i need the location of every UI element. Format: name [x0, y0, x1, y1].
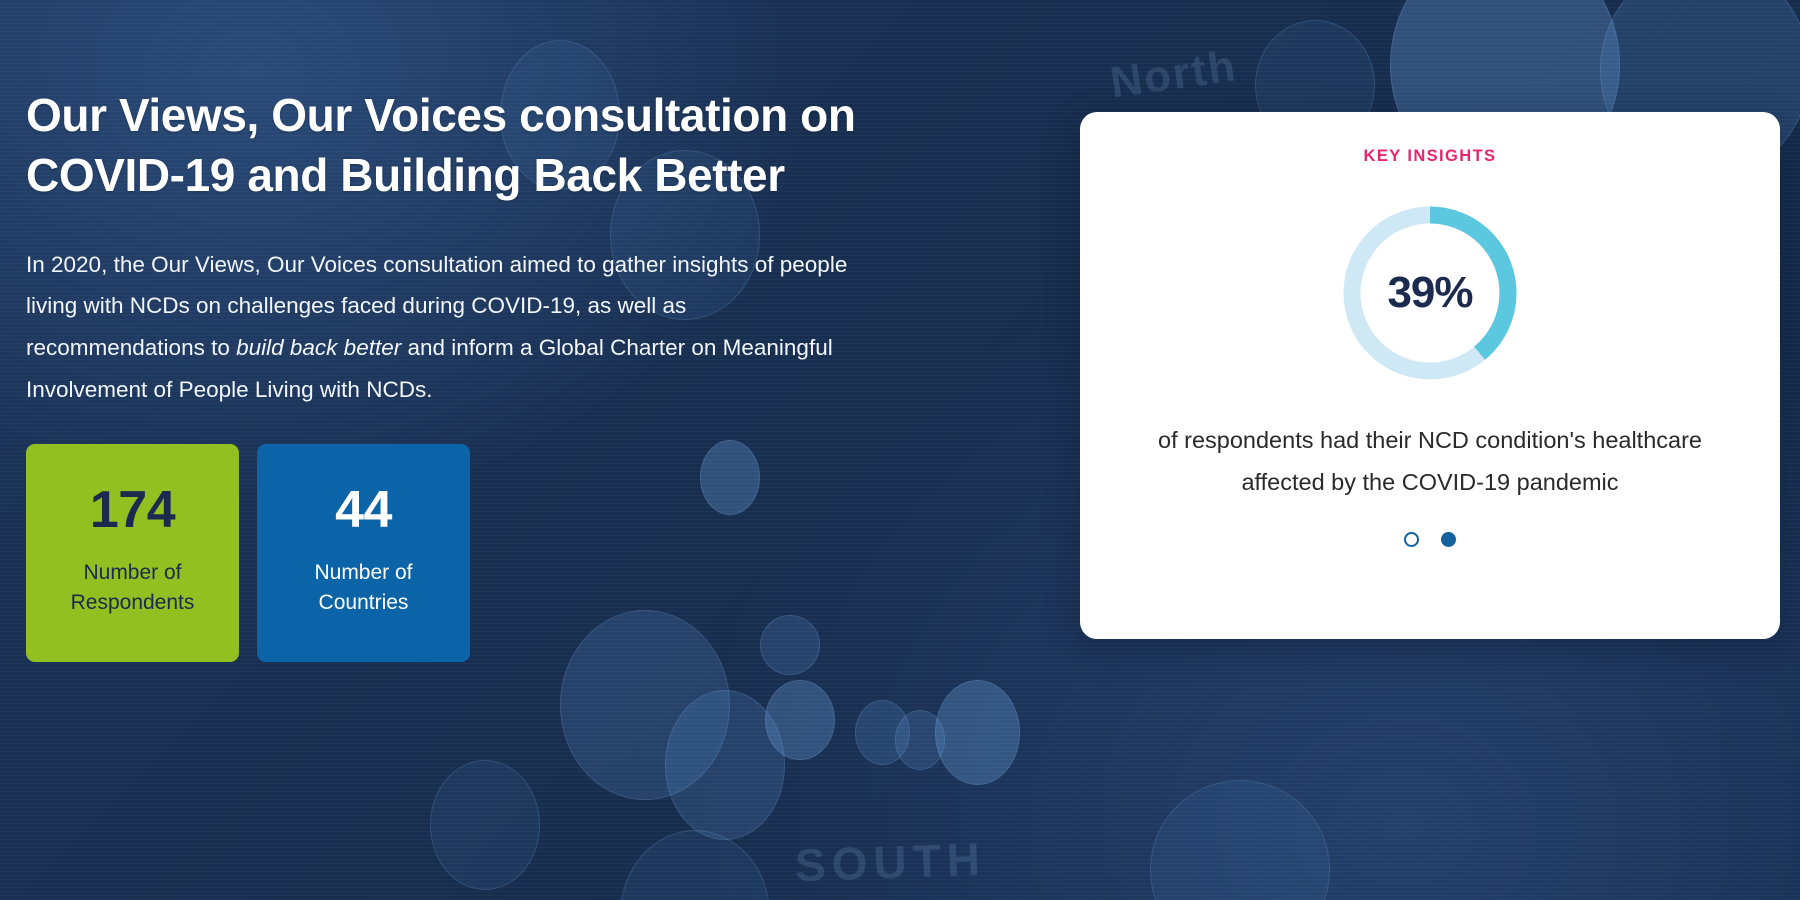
stat-label-respondents: Number of Respondents — [38, 558, 227, 619]
carousel-pagination[interactable] — [1404, 532, 1456, 547]
stat-value-countries: 44 — [335, 484, 392, 536]
key-insights-card: KEY INSIGHTS 39% of respondents had thei… — [1080, 112, 1780, 639]
donut-chart: 39% — [1337, 200, 1523, 386]
carousel-dot-2[interactable] — [1441, 532, 1456, 547]
key-insight-caption: of respondents had their NCD condition's… — [1130, 420, 1730, 504]
stat-value-respondents: 174 — [90, 484, 175, 536]
intro-paragraph-emphasis: build back better — [236, 335, 401, 360]
intro-paragraph: In 2020, the Our Views, Our Voices consu… — [26, 244, 861, 411]
donut-center-percent: 39% — [1337, 200, 1523, 386]
carousel-dot-1[interactable] — [1404, 532, 1419, 547]
stat-card-group: 174 Number of Respondents 44 Number of C… — [26, 444, 956, 662]
stat-card-respondents: 174 Number of Respondents — [26, 444, 239, 662]
page-title: Our Views, Our Voices consultation on CO… — [26, 86, 906, 206]
hero-text-column: Our Views, Our Voices consultation on CO… — [26, 86, 956, 662]
hero-section: North SOUTH Our Views, Our Voices consul… — [0, 0, 1800, 900]
stat-label-countries: Number of Countries — [269, 558, 458, 619]
stat-card-countries: 44 Number of Countries — [257, 444, 470, 662]
key-insights-eyebrow: KEY INSIGHTS — [1364, 147, 1497, 166]
